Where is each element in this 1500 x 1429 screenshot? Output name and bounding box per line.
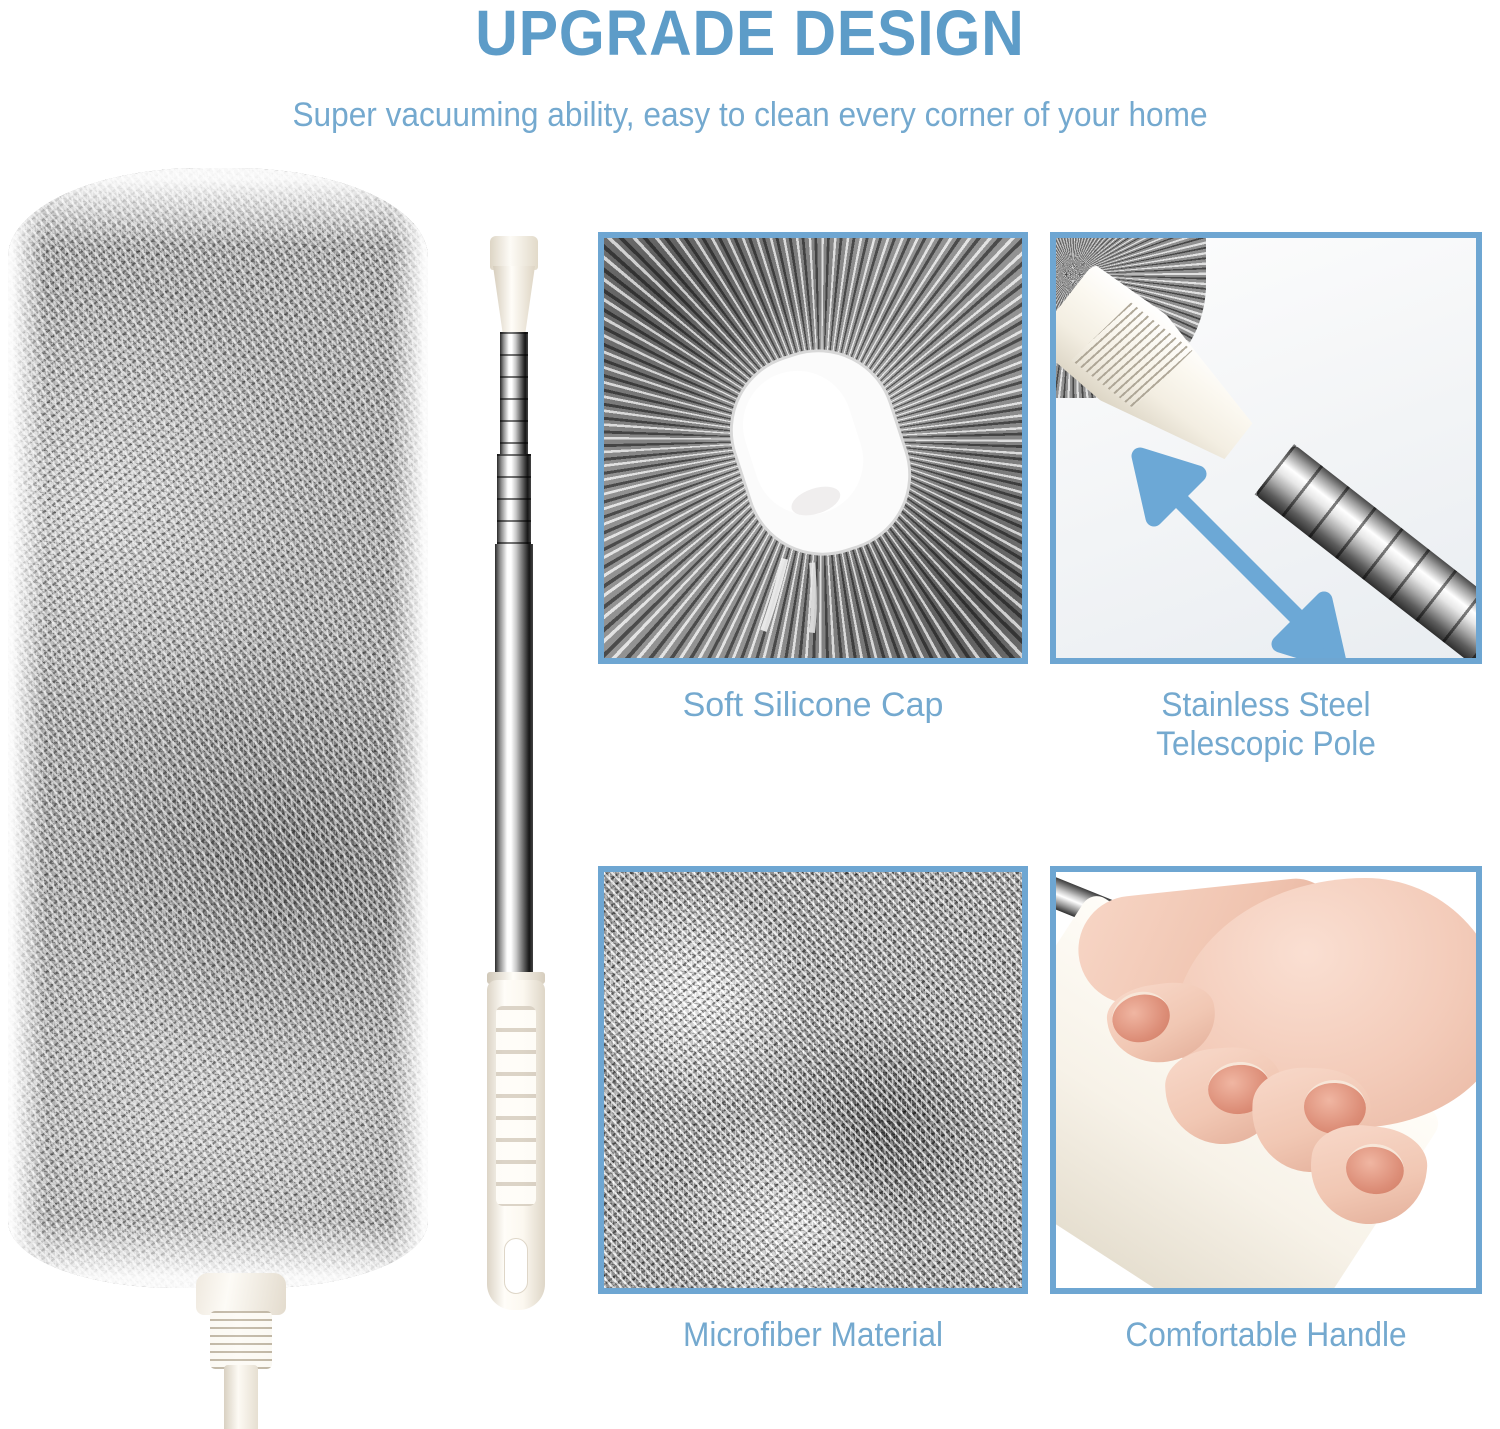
pole-segment-2: [497, 454, 531, 550]
microfiber-macro-texture: [604, 872, 1022, 1288]
panel-soft-silicone-cap: [598, 232, 1028, 664]
telescopic-pole-image: [470, 236, 600, 1316]
caption-soft-silicone-cap: Soft Silicone Cap: [598, 686, 1028, 725]
pole-segment-3: [495, 544, 533, 984]
pole-cream-connector: [493, 266, 535, 336]
main-product-image: [0, 168, 440, 1348]
panel-microfiber-material: [598, 866, 1028, 1294]
fiber-texture: [8, 168, 428, 1288]
pole-segment-rings: [497, 454, 531, 550]
duster-base-connector: [196, 1273, 286, 1429]
silicone-cap-illustration: [604, 238, 1022, 658]
page-subtitle: Super vacuuming ability, easy to clean e…: [53, 96, 1448, 135]
pole-top-cap: [490, 236, 538, 270]
page-title: UPGRADE DESIGN: [60, 0, 1440, 70]
pole-segment-rings: [500, 332, 528, 460]
panel-comfortable-handle: [1050, 866, 1482, 1294]
connector-cap: [196, 1273, 286, 1315]
handle-grip-ridges: [496, 1006, 536, 1206]
handle-hang-hole: [504, 1238, 528, 1294]
connector-stem: [224, 1365, 258, 1429]
product-feature-infographic: UPGRADE DESIGN Super vacuuming ability, …: [0, 0, 1500, 1429]
caption-comfortable-handle: Comfortable Handle: [1065, 1316, 1467, 1355]
extension-double-arrow-icon: [1124, 444, 1354, 664]
pole-segment-1: [500, 332, 528, 460]
microfiber-duster-head: [8, 168, 428, 1288]
connector-threads: [210, 1311, 272, 1369]
caption-microfiber-material: Microfiber Material: [613, 1316, 1013, 1355]
caption-stainless-steel-telescopic-pole: Stainless Steel Telescopic Pole: [1065, 686, 1467, 764]
comfort-handle: [487, 980, 545, 1310]
panel-stainless-steel-telescopic-pole: [1050, 232, 1482, 664]
